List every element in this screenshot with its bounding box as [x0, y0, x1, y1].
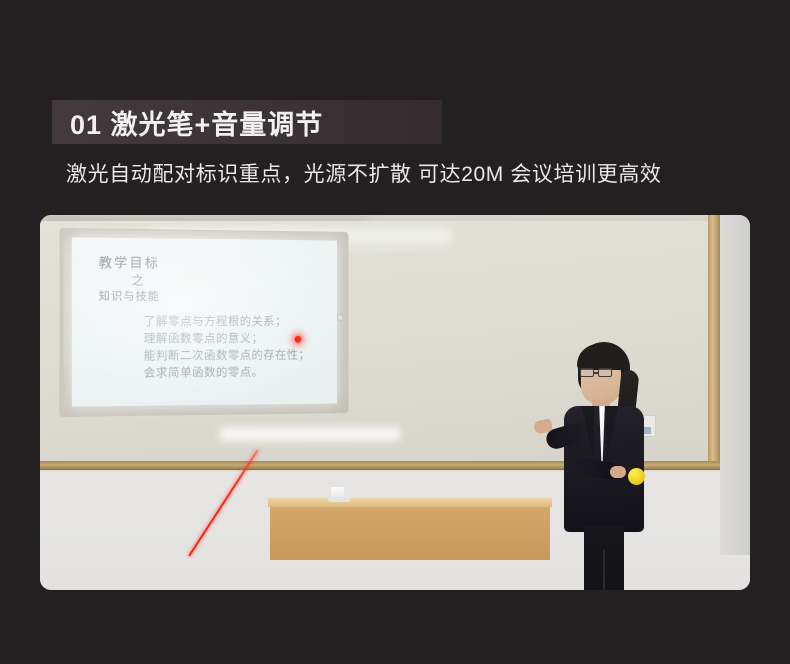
slide-title-line2: 之 [131, 271, 143, 288]
wooden-desk-top [268, 498, 552, 507]
slide-body: 了解零点与方程根的关系； 理解函数零点的意义； 能判断二次函数零点的存在性； 会… [144, 313, 310, 382]
projected-slide-bezel: 教学目标 之 知识与技能 了解零点与方程根的关系； 理解函数零点的意义； 能判断… [59, 228, 348, 417]
slide-title-line1: 教学目标 [99, 252, 160, 272]
section-heading-text: 01 激光笔+音量调节 [52, 103, 323, 142]
glasses-icon [580, 368, 616, 378]
slide-body-line: 理解函数零点的意义； [144, 330, 310, 347]
presenter-figure [548, 340, 688, 590]
section-heading-banner: 01 激光笔+音量调节 [52, 100, 442, 144]
product-scene-photo: 教学目标 之 知识与技能 了解零点与方程根的关系； 理解函数零点的意义； 能判断… [40, 215, 750, 590]
projected-slide: 教学目标 之 知识与技能 了解零点与方程根的关系； 理解函数零点的意义； 能判断… [72, 237, 337, 406]
section-subtitle: 激光自动配对标识重点，光源不扩散 可达20M 会议培训更高效 [66, 158, 662, 188]
slide-body-line: 了解零点与方程根的关系； [144, 313, 310, 330]
slide-body-line: 能判断二次函数零点的存在性； [144, 347, 310, 365]
presenter-hand-right [610, 466, 626, 478]
whiteboard-highlight [220, 427, 400, 441]
slide-title-line3: 知识与技能 [99, 287, 160, 303]
side-wall [720, 215, 750, 555]
laser-dot [295, 336, 302, 343]
slide-body-line: 会求简单函数的零点。 [144, 363, 310, 381]
presenter-lapel-right [606, 406, 618, 464]
device-sensor-dot [337, 314, 344, 321]
presenter-trousers-seam [603, 550, 605, 590]
wooden-desk [270, 500, 550, 560]
cup-on-desk [328, 487, 350, 503]
presenter-arm-badge [628, 468, 645, 485]
whiteboard-frame-right [708, 215, 720, 467]
